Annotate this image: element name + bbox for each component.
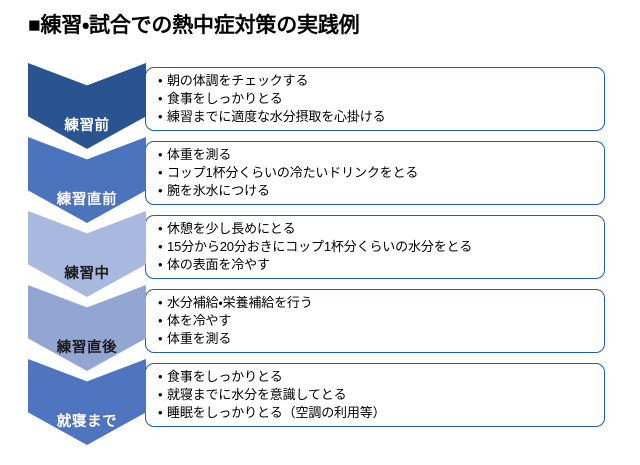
bullet-item-text: 体の表面を冷やす <box>167 256 270 274</box>
bullet-item: •体の表面を冷やす <box>158 256 594 274</box>
bullet-point-icon: • <box>158 368 167 386</box>
stage-detail-box: •休憩を少し長めにとる•15分から20分おきにコップ1杯分くらいの水分をとる•体… <box>145 215 605 279</box>
stage-detail-box: •体重を測る•コップ1杯分くらいの冷たいドリンクをとる•腕を氷水につける <box>145 141 605 205</box>
stage-label: 就寝まで <box>57 415 117 430</box>
bullet-item-text: 就寝までに水分を意識してとる <box>167 386 347 404</box>
page-title: ■練習・試合での熱中症対策の実践例 <box>28 12 359 39</box>
bullet-item-text: 休憩を少し長めにとる <box>167 220 296 238</box>
stage-label: 練習前 <box>64 119 109 134</box>
bullet-item-text: コップ1杯分くらいの冷たいドリンクをとる <box>167 164 418 182</box>
bullet-item: •朝の体調をチェックする <box>158 72 594 90</box>
bullet-item: •水分補給・栄養補給を行う <box>158 294 594 312</box>
stage-label: 練習直前 <box>57 193 117 208</box>
bullet-item-text: 体重を測る <box>167 146 231 164</box>
bullet-point-icon: • <box>158 256 167 274</box>
heatstroke-prevention-flow: 練習前•朝の体調をチェックする•食事をしっかりとる•練習までに適度な水分摂取を心… <box>0 63 640 433</box>
bullet-item: •コップ1杯分くらいの冷たいドリンクをとる <box>158 164 594 182</box>
bullet-item-text: 腕を氷水につける <box>167 182 270 200</box>
bullet-item: •腕を氷水につける <box>158 182 594 200</box>
bullet-point-icon: • <box>158 164 167 182</box>
bullet-item-text: 食事をしっかりとる <box>167 368 283 386</box>
flow-row: 練習直後•水分補給・栄養補給を行う•体を冷やす•体重を測る <box>0 285 640 357</box>
stage-detail-box: •食事をしっかりとる•就寝までに水分を意識してとる•睡眠をしっかりとる（空調の利… <box>145 363 605 427</box>
stage-detail-box: •朝の体調をチェックする•食事をしっかりとる•練習までに適度な水分摂取を心掛ける <box>145 67 605 131</box>
bullet-point-icon: • <box>158 330 167 348</box>
bullet-point-icon: • <box>158 72 167 90</box>
bullet-point-icon: • <box>158 238 167 256</box>
bullet-item: •就寝までに水分を意識してとる <box>158 386 594 404</box>
bullet-item: •食事をしっかりとる <box>158 368 594 386</box>
stage-label: 練習中 <box>64 267 109 282</box>
bullet-point-icon: • <box>158 312 167 330</box>
bullet-item: •練習までに適度な水分摂取を心掛ける <box>158 108 594 126</box>
bullet-point-icon: • <box>158 220 167 238</box>
flow-row: 練習中•休憩を少し長めにとる•15分から20分おきにコップ1杯分くらいの水分をと… <box>0 211 640 283</box>
bullet-point-icon: • <box>158 182 167 200</box>
bullet-point-icon: • <box>158 294 167 312</box>
bullet-item-text: 練習までに適度な水分摂取を心掛ける <box>167 108 385 126</box>
stage-detail-box: •水分補給・栄養補給を行う•体を冷やす•体重を測る <box>145 289 605 353</box>
bullet-point-icon: • <box>158 90 167 108</box>
bullet-point-icon: • <box>158 386 167 404</box>
bullet-item-text: 食事をしっかりとる <box>167 90 283 108</box>
stage-chevron-5[interactable]: 就寝まで <box>28 359 146 445</box>
bullet-item: •睡眠をしっかりとる（空調の利用等） <box>158 404 594 422</box>
flow-row: 練習前•朝の体調をチェックする•食事をしっかりとる•練習までに適度な水分摂取を心… <box>0 63 640 135</box>
bullet-item: •体を冷やす <box>158 312 594 330</box>
flow-row: 練習直前•体重を測る•コップ1杯分くらいの冷たいドリンクをとる•腕を氷水につける <box>0 137 640 209</box>
bullet-item: •体重を測る <box>158 330 594 348</box>
flow-row: 就寝まで•食事をしっかりとる•就寝までに水分を意識してとる•睡眠をしっかりとる（… <box>0 359 640 431</box>
bullet-item: •体重を測る <box>158 146 594 164</box>
bullet-item-text: 体重を測る <box>167 330 231 348</box>
bullet-item-text: 睡眠をしっかりとる（空調の利用等） <box>167 404 385 422</box>
bullet-item: •休憩を少し長めにとる <box>158 220 594 238</box>
bullet-item-text: 朝の体調をチェックする <box>167 72 308 90</box>
bullet-item-text: 水分補給・栄養補給を行う <box>167 294 313 312</box>
bullet-item-text: 15分から20分おきにコップ1杯分くらいの水分をとる <box>167 238 472 256</box>
bullet-item-text: 体を冷やす <box>167 312 231 330</box>
bullet-point-icon: • <box>158 146 167 164</box>
bullet-item: •15分から20分おきにコップ1杯分くらいの水分をとる <box>158 238 594 256</box>
bullet-point-icon: • <box>158 108 167 126</box>
bullet-item: •食事をしっかりとる <box>158 90 594 108</box>
bullet-point-icon: • <box>158 404 167 422</box>
stage-label: 練習直後 <box>57 341 117 356</box>
